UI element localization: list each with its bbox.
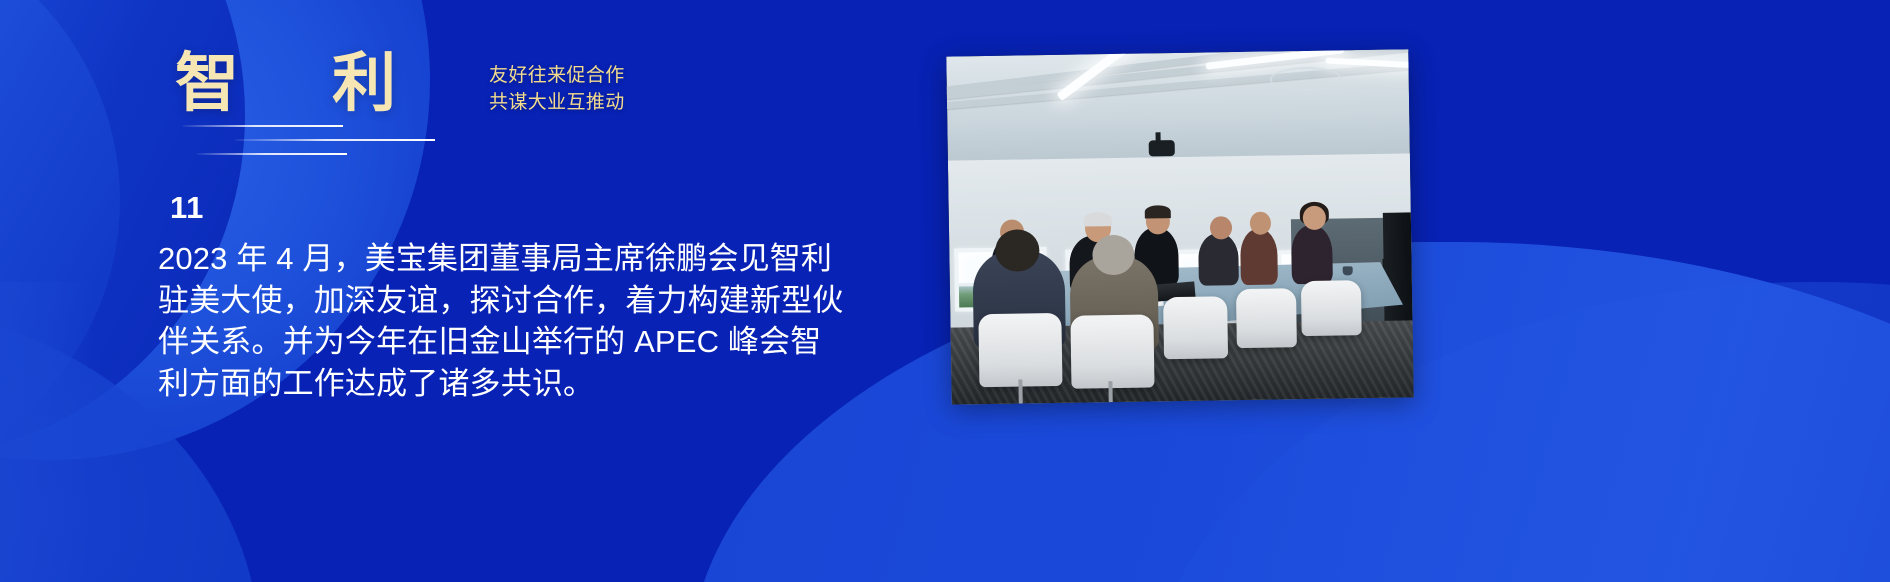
attendee-head [1209,216,1232,240]
attendee-head [1092,235,1134,276]
title-underline-decoration [175,121,595,165]
attendee [1199,233,1239,286]
title-rule-3 [197,153,347,155]
subtitle-slogan: 友好往来促合作 共谋大业互推动 [489,63,625,117]
attendee-hair [1145,206,1171,219]
ceiling-vent [1270,66,1342,91]
attendee-hair [1084,212,1111,226]
attendee-head [995,229,1040,271]
chair-base [1108,381,1112,402]
chair-base [1018,379,1022,403]
office-chair [1301,280,1362,337]
mug-on-table [1342,266,1352,275]
item-number: 11 [170,190,204,226]
title-rule-2 [235,139,435,141]
body-paragraph: 2023 年 4 月，美宝集团董事局主席徐鹏会见智利驻美大使，加深友谊，探讨合作… [158,238,848,404]
office-chair [978,312,1062,386]
attendee [1240,229,1278,285]
title-rule-1 [183,125,343,127]
office-chair [1236,288,1297,348]
meeting-photo-content [946,49,1413,404]
meeting-photo [946,49,1413,404]
office-chair [1070,314,1154,388]
office-chair [1163,296,1229,360]
decor-band-bottom-left [0,282,95,582]
attendee [1291,225,1334,285]
ceiling-camera [1149,140,1175,156]
photo-ceiling [946,49,1410,171]
